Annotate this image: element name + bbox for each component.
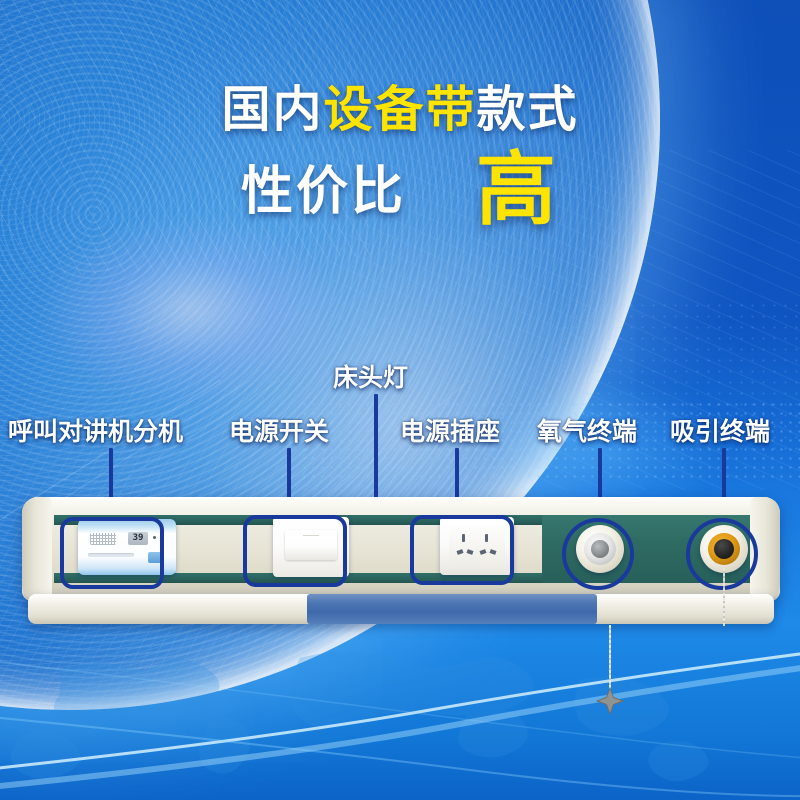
- headline-line1-part1: 国内: [221, 81, 323, 138]
- suction-drain-tube: [723, 568, 725, 626]
- pull-cord[interactable]: [609, 625, 611, 695]
- callout-label-suction-terminal: 吸引终端: [670, 412, 770, 448]
- banner-canvas: 国内设备带款式 性价比高 呼叫对讲机分机 电源开关 床头灯 电源插座 氧气终端 …: [0, 0, 800, 800]
- callout-label-oxygen-terminal: 氧气终端: [537, 412, 637, 448]
- panel-endcap-left: [22, 497, 52, 601]
- headline-line-2: 性价比高: [0, 158, 800, 224]
- lens-flare-glow: [40, 215, 340, 405]
- headline-line1-part2: 款式: [477, 81, 579, 138]
- highlight-circle-suction: [686, 518, 758, 590]
- headline-line1-highlight: 设备带: [323, 81, 476, 138]
- callout-label-bedside-lamp: 床头灯: [333, 358, 408, 394]
- callout-label-intercom: 呼叫对讲机分机: [8, 412, 183, 448]
- headline-line-1: 国内设备带款式: [0, 80, 800, 140]
- headline-line2-highlight: 高: [476, 143, 559, 236]
- headline-block: 国内设备带款式 性价比高: [0, 80, 800, 224]
- callout-label-power-socket: 电源插座: [400, 412, 500, 448]
- highlight-box-power-switch: [243, 515, 347, 587]
- highlight-box-power-socket: [410, 515, 514, 585]
- pull-cord-weight-icon[interactable]: [595, 686, 625, 716]
- highlight-circle-oxygen: [562, 518, 634, 590]
- headline-line2-white: 性价比: [241, 162, 406, 222]
- callout-label-power-switch: 电源开关: [229, 412, 329, 448]
- highlight-box-intercom: [60, 517, 164, 589]
- panel-rail-blue-section: [307, 594, 597, 624]
- light-swoosh-lines: [0, 620, 800, 800]
- world-map-silhouette: [0, 640, 800, 800]
